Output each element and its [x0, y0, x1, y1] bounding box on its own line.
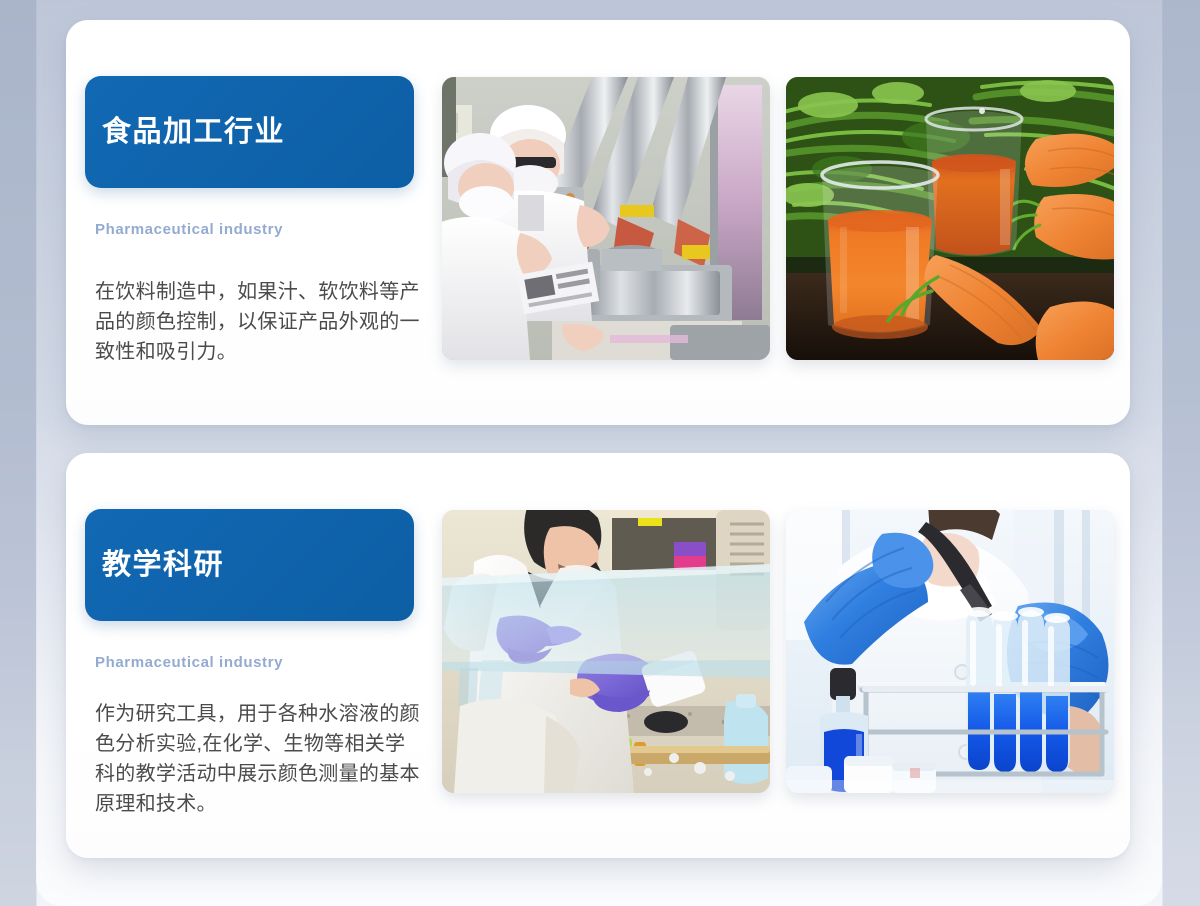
card-title-badge: 食品加工行业	[85, 76, 414, 188]
scenario-card-teaching-research: 教学科研 Pharmaceutical industry 作为研究工具，用于各种…	[66, 453, 1130, 858]
card-title-badge: 教学科研	[85, 509, 414, 621]
card-subtitle: Pharmaceutical industry	[95, 654, 485, 671]
card-title: 食品加工行业	[102, 118, 285, 147]
card-title: 教学科研	[102, 551, 224, 580]
carrot-juice-glasses-photo	[786, 77, 1114, 360]
lab-scientist-gloves-photo	[442, 510, 770, 793]
card-image-gallery	[442, 510, 1114, 793]
card-text-column: 教学科研 Pharmaceutical industry 作为研究工具，用于各种…	[85, 509, 485, 819]
card-subtitle: Pharmaceutical industry	[95, 221, 485, 238]
card-description: 在饮料制造中，如果汁、软饮料等产品的颜色控制，以保证产品外观的一致性和吸引力。	[95, 277, 425, 367]
card-text-column: 食品加工行业 Pharmaceutical industry 在饮料制造中，如果…	[85, 76, 485, 367]
food-factory-workers-photo	[442, 77, 770, 360]
scenario-card-list: 食品加工行业 Pharmaceutical industry 在饮料制造中，如果…	[0, 0, 1200, 906]
card-image-gallery	[442, 77, 1114, 360]
card-description: 作为研究工具，用于各种水溶液的颜色分析实验,在化学、生物等相关学科的教学活动中展…	[95, 699, 425, 819]
scenario-card-food-processing: 食品加工行业 Pharmaceutical industry 在饮料制造中，如果…	[66, 20, 1130, 425]
blue-test-tubes-photo	[786, 510, 1114, 793]
